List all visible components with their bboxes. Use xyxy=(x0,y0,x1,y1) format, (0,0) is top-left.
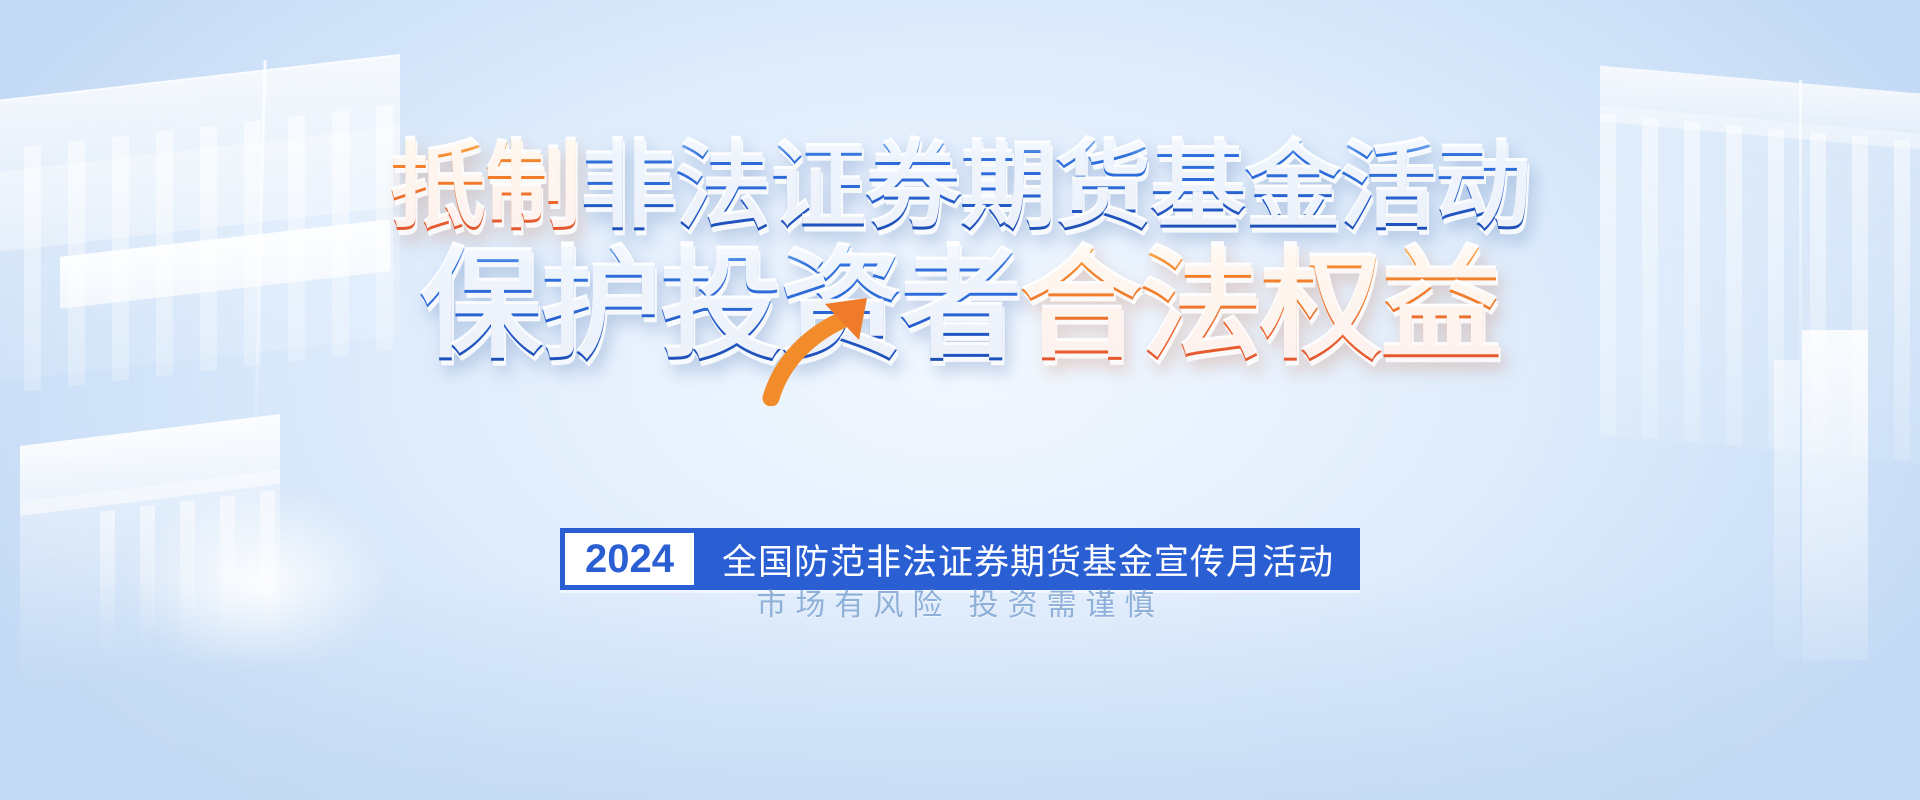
headline-line1-segment-2: 非法证券期货基金活动 xyxy=(580,140,1530,236)
headline-line1-segment-1: 抵制 xyxy=(390,140,580,236)
badge-year: 2024 xyxy=(565,533,694,585)
right-building-roof xyxy=(1600,66,1920,151)
background-decoration xyxy=(0,0,1920,800)
left-lower-building-roof xyxy=(20,414,280,516)
headline-line2-segment-2: 合法权益 xyxy=(1020,246,1500,368)
headline-block: 抵制非法证券期货基金活动 保护投资者合法权益 xyxy=(0,140,1920,368)
risk-disclaimer: 市场有风险 投资需谨慎 xyxy=(0,580,1920,624)
promo-banner: 抵制非法证券期货基金活动 保护投资者合法权益 2024 全国防范非法证券期货基金… xyxy=(0,0,1920,800)
headline-line2-segment-1: 保护投资者 xyxy=(420,246,1020,368)
headline-line-1: 抵制非法证券期货基金活动 xyxy=(0,140,1920,236)
headline-line-2: 保护投资者合法权益 xyxy=(0,246,1920,368)
